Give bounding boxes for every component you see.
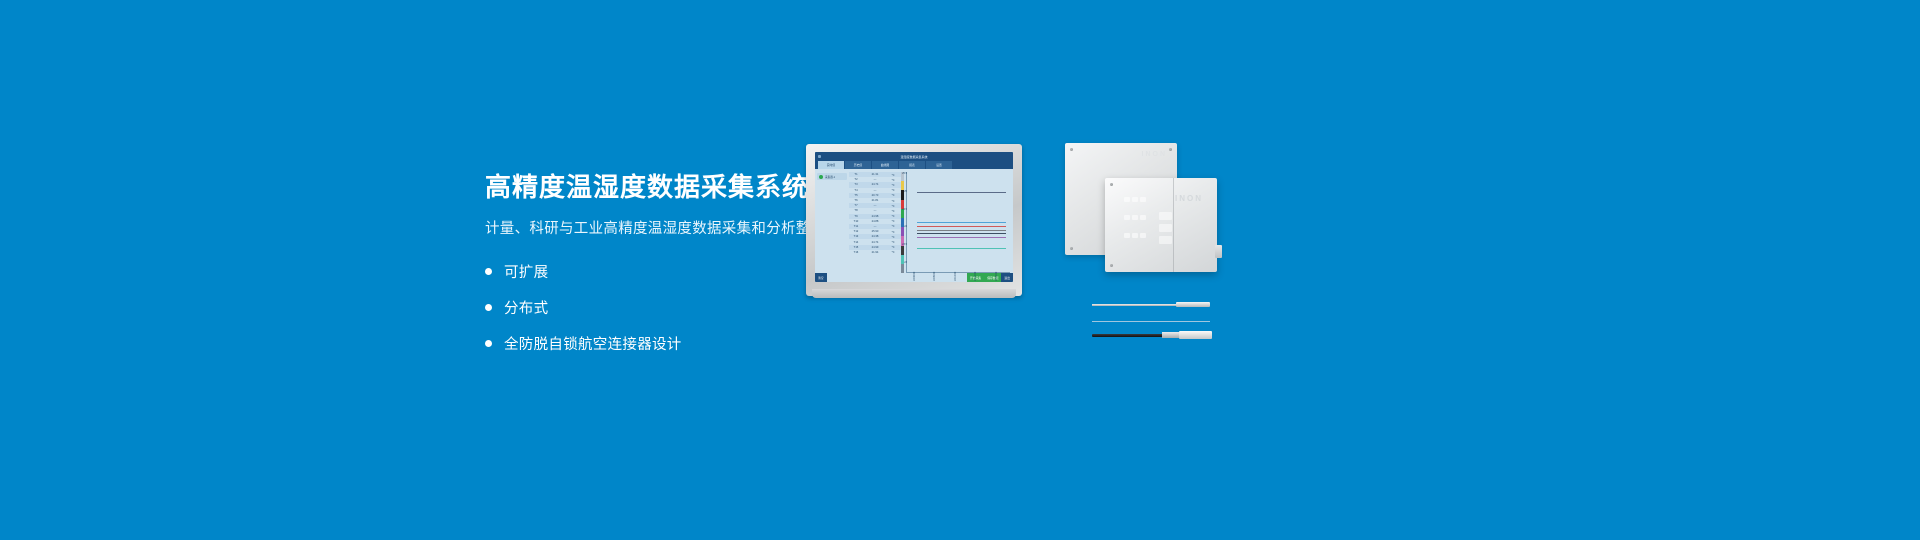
hero-banner: 高精度温湿度数据采集系统 计量、科研与工业高精度温湿度数据采集和分析整体解决方案…	[0, 0, 1920, 540]
sensor-port-icon	[1159, 212, 1172, 220]
y-tick-label: 23	[904, 261, 907, 264]
bullet-icon	[485, 304, 492, 311]
app-tab-strip: 实时值 历史值 曲线图 报表 设置	[815, 161, 1013, 169]
probe-cable	[1092, 334, 1164, 337]
chart-series-line	[917, 222, 1006, 223]
channel-table: T121.31℃T2---℃T324.74℃T4---℃T520.73℃T621…	[849, 169, 901, 273]
cell-value: ---	[863, 209, 887, 212]
chart-series-line	[917, 230, 1006, 231]
legend-swatch	[901, 264, 904, 273]
cell-channel: T6	[849, 199, 863, 202]
tab-curve[interactable]: 曲线图	[872, 161, 898, 169]
device-tree-panel: 采集器-1	[815, 169, 849, 273]
cell-value: 24.99	[863, 246, 887, 249]
keypad[interactable]	[1123, 190, 1149, 244]
chart-series-line	[917, 248, 1006, 249]
cell-channel: T9	[849, 215, 863, 218]
cell-value: 20.73	[863, 194, 887, 197]
screw-icon	[1110, 183, 1113, 186]
cell-value: 24.88	[863, 220, 887, 223]
cell-value: 24.74	[863, 241, 887, 244]
feature-label: 全防脱自锁航空连接器设计	[504, 333, 682, 354]
cell-channel: T10	[849, 220, 863, 223]
tab-settings[interactable]: 设置	[926, 161, 952, 169]
list-item: 分布式	[485, 297, 965, 318]
monitor-base	[812, 289, 1016, 298]
screw-icon	[1110, 264, 1113, 267]
sensor-port-icon	[1159, 236, 1172, 244]
app-title-bar: 温湿度数据采集系统	[815, 152, 1013, 161]
chart-series-line	[917, 233, 1006, 234]
feature-label: 可扩展	[504, 261, 548, 282]
data-logger-group: INON INON	[1065, 143, 1210, 293]
app-window-title: 温湿度数据采集系统	[900, 155, 927, 159]
chart-series-line	[917, 237, 1006, 238]
probe-shaft	[1092, 304, 1178, 306]
cell-channel: T5	[849, 194, 863, 197]
tab-report[interactable]: 报表	[899, 161, 925, 169]
daq-application: 温湿度数据采集系统 实时值 历史值 曲线图 报表 设置 采集器-	[815, 152, 1013, 282]
keypad-key[interactable]	[1140, 233, 1146, 238]
thin-wire-sensor	[1092, 320, 1210, 323]
screw-icon	[1070, 148, 1073, 151]
cell-channel: T8	[849, 209, 863, 212]
cell-channel: T12	[849, 230, 863, 233]
rigid-temperature-probe	[1092, 302, 1210, 307]
screw-icon	[1070, 247, 1073, 250]
chart-y-axis: 25.52524.52423.523	[897, 172, 907, 264]
sensor-wire	[1092, 321, 1210, 322]
device-tree-node[interactable]: 采集器-1	[817, 173, 847, 180]
keypad-key[interactable]	[1124, 215, 1130, 220]
brand-label: INON	[1175, 194, 1203, 203]
cell-value: ---	[863, 178, 887, 181]
probe-ferrule	[1162, 332, 1180, 338]
cell-channel: T15	[849, 246, 863, 249]
keypad-key[interactable]	[1140, 215, 1146, 220]
sensor-ports	[1159, 212, 1172, 248]
y-tick-label: 25.5	[902, 172, 907, 175]
cell-value: 24.98	[863, 215, 887, 218]
cabled-humidity-probe	[1092, 330, 1212, 340]
chart-plot-area	[909, 172, 1008, 262]
cell-channel: T1	[849, 173, 863, 176]
y-tick-label: 24.5	[902, 208, 907, 211]
monitor-screen: 温湿度数据采集系统 实时值 历史值 曲线图 报表 设置 采集器-	[815, 152, 1013, 282]
cell-value: ---	[863, 204, 887, 207]
cell-channel: T11	[849, 225, 863, 228]
cell-channel: T7	[849, 204, 863, 207]
sensor-port-icon	[1159, 224, 1172, 232]
clear-button[interactable]: 清空	[815, 273, 827, 282]
monitor-bezel: 温湿度数据采集系统 实时值 历史值 曲线图 报表 设置 采集器-	[806, 144, 1022, 296]
device-icon	[819, 175, 823, 179]
cell-channel: T4	[849, 189, 863, 192]
probe-handle	[1176, 302, 1210, 307]
cell-channel: T2	[849, 178, 863, 181]
cell-channel: T16	[849, 251, 863, 254]
x-tick-label: 10:20:00	[995, 272, 1004, 281]
bullet-icon	[485, 268, 492, 275]
chart-series-line	[917, 192, 1006, 193]
keypad-key[interactable]	[1132, 215, 1138, 220]
app-body: 采集器-1 T121.31℃T2---℃T324.74℃T4---℃T520.7…	[815, 169, 1013, 273]
y-tick-label: 24	[904, 225, 907, 228]
probe-body	[1179, 331, 1212, 339]
chart-series-line	[917, 226, 1006, 227]
list-item: 全防脱自锁航空连接器设计	[485, 333, 965, 354]
table-row[interactable]: T1621.94℃	[849, 250, 901, 255]
cell-channel: T14	[849, 241, 863, 244]
screw-icon	[1169, 148, 1172, 151]
cell-value: 24.74	[863, 183, 887, 186]
y-tick-label: 23.5	[902, 243, 907, 246]
panel-pc-monitor: 温湿度数据采集系统 实时值 历史值 曲线图 报表 设置 采集器-	[806, 144, 1022, 296]
window-menu-icon	[818, 155, 821, 158]
brand-label: INON	[1142, 151, 1168, 158]
device-label: 采集器-1	[825, 175, 835, 179]
cell-value: 21.94	[863, 251, 887, 254]
x-tick-label: 10:10:00	[954, 272, 963, 281]
tab-realtime[interactable]: 实时值	[818, 161, 844, 169]
x-tick-label: 10:15:00	[975, 272, 984, 281]
trend-chart: 25.52524.52423.523 10:00:0010:05:0010:10…	[906, 172, 1010, 273]
tab-history[interactable]: 历史值	[845, 161, 871, 169]
chart-x-axis: 10:00:0010:05:0010:10:0010:15:0010:20:00	[907, 272, 1010, 281]
x-tick-label: 10:00:00	[913, 272, 922, 281]
panel-seam	[1173, 178, 1174, 272]
data-logger-front-unit: INON	[1105, 178, 1217, 272]
cell-value: ---	[863, 225, 887, 228]
keypad-key[interactable]	[1124, 197, 1130, 202]
bullet-icon	[485, 340, 492, 347]
cell-channel: T3	[849, 183, 863, 186]
side-connector	[1215, 245, 1222, 258]
keypad-key[interactable]	[1132, 233, 1138, 238]
keypad-key[interactable]	[1124, 233, 1130, 238]
keypad-key[interactable]	[1140, 197, 1146, 202]
cell-value: 25.90	[863, 230, 887, 233]
y-tick-label: 25	[904, 190, 907, 193]
cell-value: 21.81	[863, 199, 887, 202]
cell-value: ---	[863, 189, 887, 192]
cell-value: 21.31	[863, 173, 887, 176]
feature-label: 分布式	[504, 297, 548, 318]
cell-channel: T13	[849, 235, 863, 238]
x-tick-label: 10:05:00	[933, 272, 942, 281]
keypad-key[interactable]	[1132, 197, 1138, 202]
cell-value: 24.38	[863, 235, 887, 238]
